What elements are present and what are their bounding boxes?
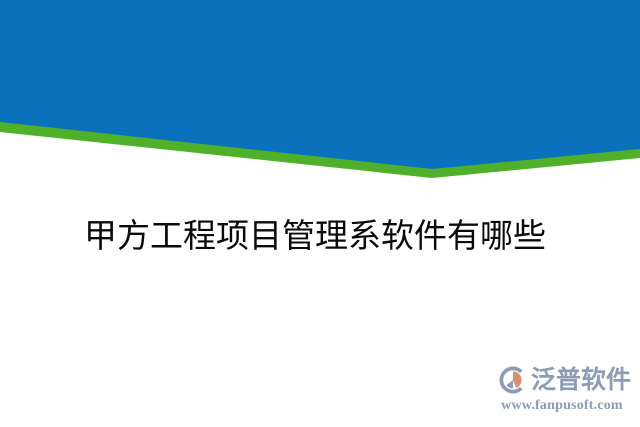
slide-canvas: 甲方工程项目管理系软件有哪些 泛普软件 www.fanpusoft.com bbox=[0, 0, 640, 427]
page-title: 甲方工程项目管理系软件有哪些 bbox=[84, 216, 564, 258]
brand-name: 泛普软件 bbox=[531, 365, 631, 395]
fanpu-crescent-logo-icon bbox=[498, 365, 528, 395]
brand-url: www.fanpusoft.com bbox=[492, 397, 632, 414]
brand-row: 泛普软件 bbox=[498, 363, 632, 396]
header-blue-shape bbox=[0, 0, 640, 169]
header-green-stripe bbox=[0, 0, 640, 178]
header-chevron-band bbox=[0, 0, 640, 200]
brand-watermark: 泛普软件 www.fanpusoft.com bbox=[492, 363, 632, 421]
